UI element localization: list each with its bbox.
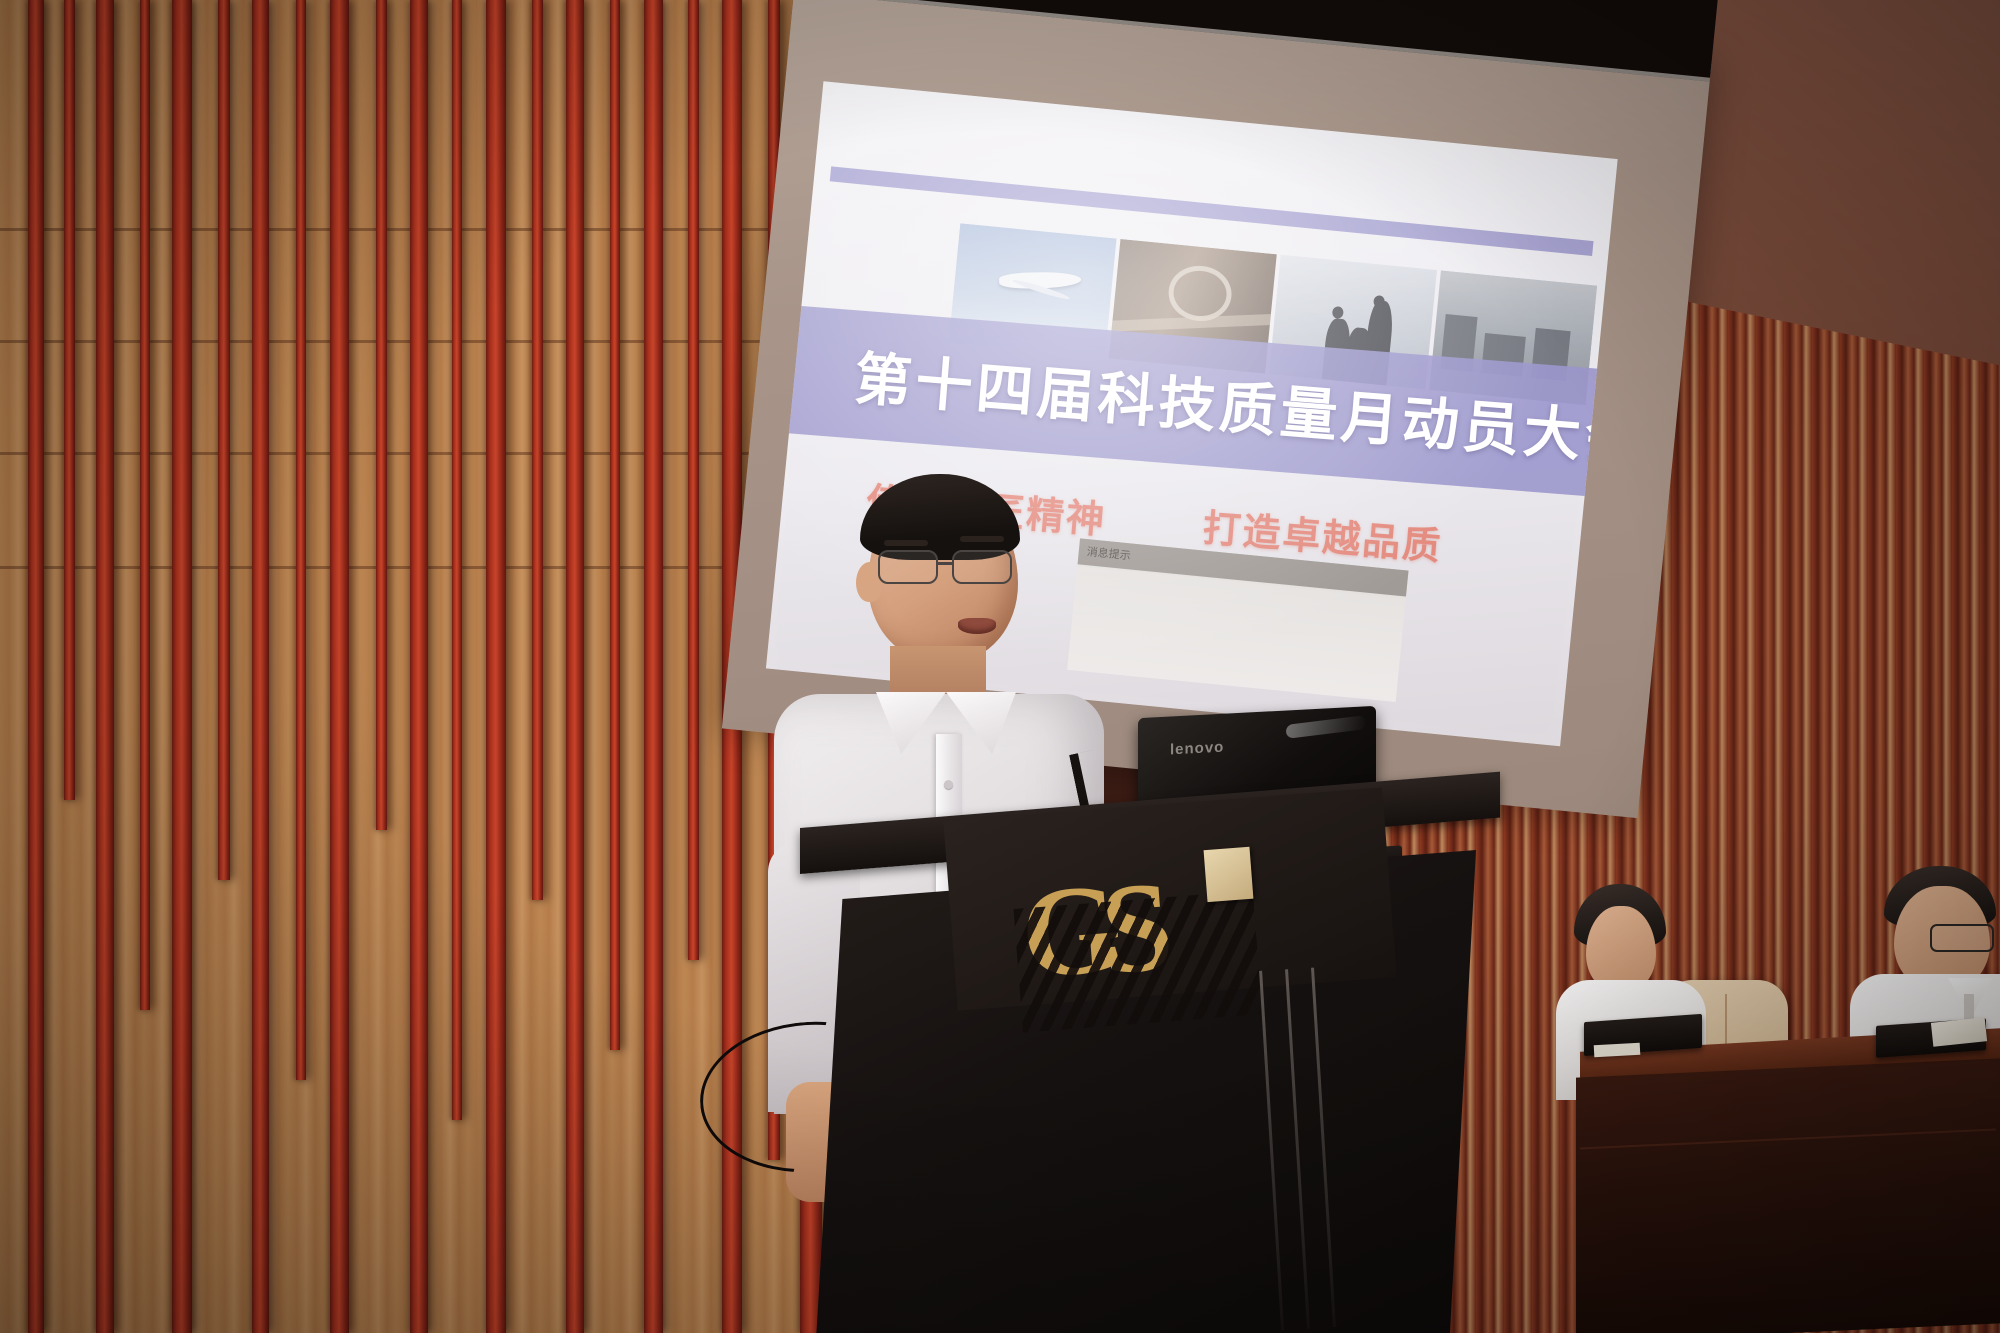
slide-accent-bar bbox=[830, 166, 1594, 256]
wall-slat bbox=[410, 0, 428, 1333]
subtitle-spacer bbox=[1118, 534, 1190, 540]
wall-slat bbox=[140, 0, 150, 1010]
wall-slat bbox=[96, 0, 114, 1333]
wall-slat bbox=[218, 0, 230, 880]
podium-accent-line bbox=[1311, 968, 1336, 1328]
conference-table-front bbox=[1576, 1058, 2000, 1333]
eyeglasses-icon bbox=[878, 550, 1028, 586]
wall-slat bbox=[486, 0, 506, 1333]
shirt-button bbox=[944, 780, 953, 789]
wall-slat bbox=[296, 0, 306, 1080]
eyeglass-lens-left bbox=[878, 550, 938, 584]
speaker-mouth bbox=[958, 618, 996, 634]
podium-logo: G S bbox=[1017, 854, 1248, 1020]
wall-slat bbox=[330, 0, 349, 1333]
eyeglass-lens-right bbox=[952, 550, 1012, 584]
podium-lectern: G S bbox=[800, 828, 1500, 1333]
speaker-hair bbox=[860, 474, 1020, 560]
wall-slat bbox=[452, 0, 462, 1120]
wall-slat bbox=[610, 0, 620, 1050]
wall-slat bbox=[566, 0, 584, 1333]
person-head-icon bbox=[1331, 306, 1343, 319]
eyeglasses-icon bbox=[1930, 924, 1994, 952]
wall-slat bbox=[532, 0, 543, 900]
wall-slat bbox=[644, 0, 663, 1333]
wall-slat bbox=[172, 0, 192, 1333]
laptop-brand-label: lenovo bbox=[1170, 739, 1224, 759]
wall-slat bbox=[376, 0, 387, 830]
wall-slat bbox=[688, 0, 699, 960]
podium-logo-stripes bbox=[1014, 891, 1263, 1033]
podium-sticker bbox=[1204, 847, 1254, 902]
speaker-eyebrow bbox=[884, 540, 928, 546]
speaker-eyebrow bbox=[960, 536, 1004, 542]
conference-hall-photo: 第十四届科技质量月动员大会 传承工匠精神 打造卓越品质 通用 2010 消息提示 bbox=[0, 0, 2000, 1333]
wall-slat bbox=[28, 0, 44, 1333]
podium-accent-line bbox=[1285, 969, 1310, 1329]
wall-slat bbox=[64, 0, 75, 800]
table-paper bbox=[1594, 1043, 1641, 1057]
wall-slat bbox=[252, 0, 269, 1333]
